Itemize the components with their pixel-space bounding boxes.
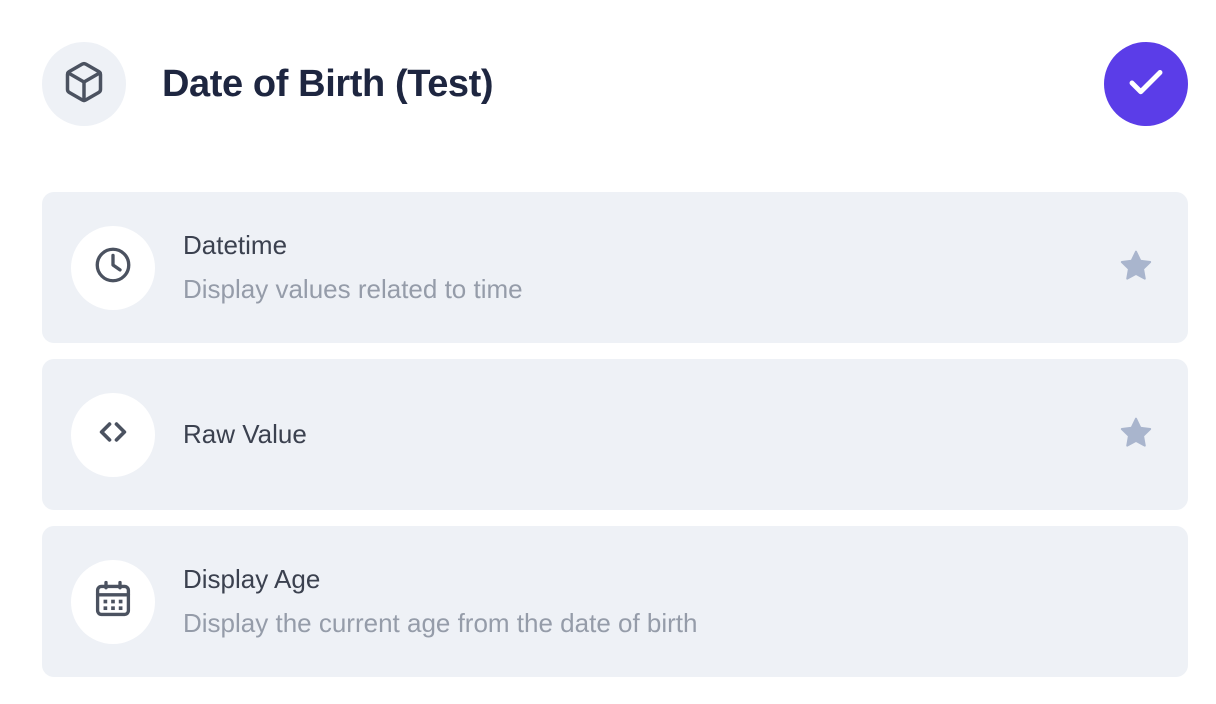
option-card-display-age[interactable]: Display Age Display the current age from… (42, 526, 1188, 677)
option-text: Display Age Display the current age from… (183, 564, 1098, 638)
option-subtitle: Display the current age from the date of… (183, 608, 1098, 639)
clock-icon (92, 244, 134, 291)
option-card-raw-value[interactable]: Raw Value (42, 359, 1188, 510)
code-brackets-icon-container (71, 393, 155, 477)
option-title: Raw Value (183, 419, 1098, 450)
calendar-icon (92, 578, 134, 625)
option-card-datetime[interactable]: Datetime Display values related to time (42, 192, 1188, 343)
cube-icon-container (42, 42, 126, 126)
calendar-icon-container (71, 560, 155, 644)
star-icon (1119, 415, 1153, 454)
option-title: Datetime (183, 230, 1098, 261)
option-subtitle: Display values related to time (183, 274, 1098, 305)
clock-icon-container (71, 226, 155, 310)
option-list: Datetime Display values related to time (42, 192, 1188, 677)
page-title: Date of Birth (Test) (162, 65, 493, 103)
favorite-star-button[interactable] (1118, 417, 1154, 453)
option-title: Display Age (183, 564, 1098, 595)
favorite-star-button[interactable] (1118, 250, 1154, 286)
option-text: Datetime Display values related to time (183, 230, 1098, 304)
header: Date of Birth (Test) (42, 40, 1188, 128)
cube-icon (62, 60, 106, 109)
star-icon (1119, 248, 1153, 287)
option-text: Raw Value (183, 419, 1098, 450)
confirm-button[interactable] (1104, 42, 1188, 126)
code-brackets-icon (92, 411, 134, 458)
option-picker-screen: Date of Birth (Test) Da (0, 0, 1216, 704)
check-icon (1125, 62, 1167, 107)
